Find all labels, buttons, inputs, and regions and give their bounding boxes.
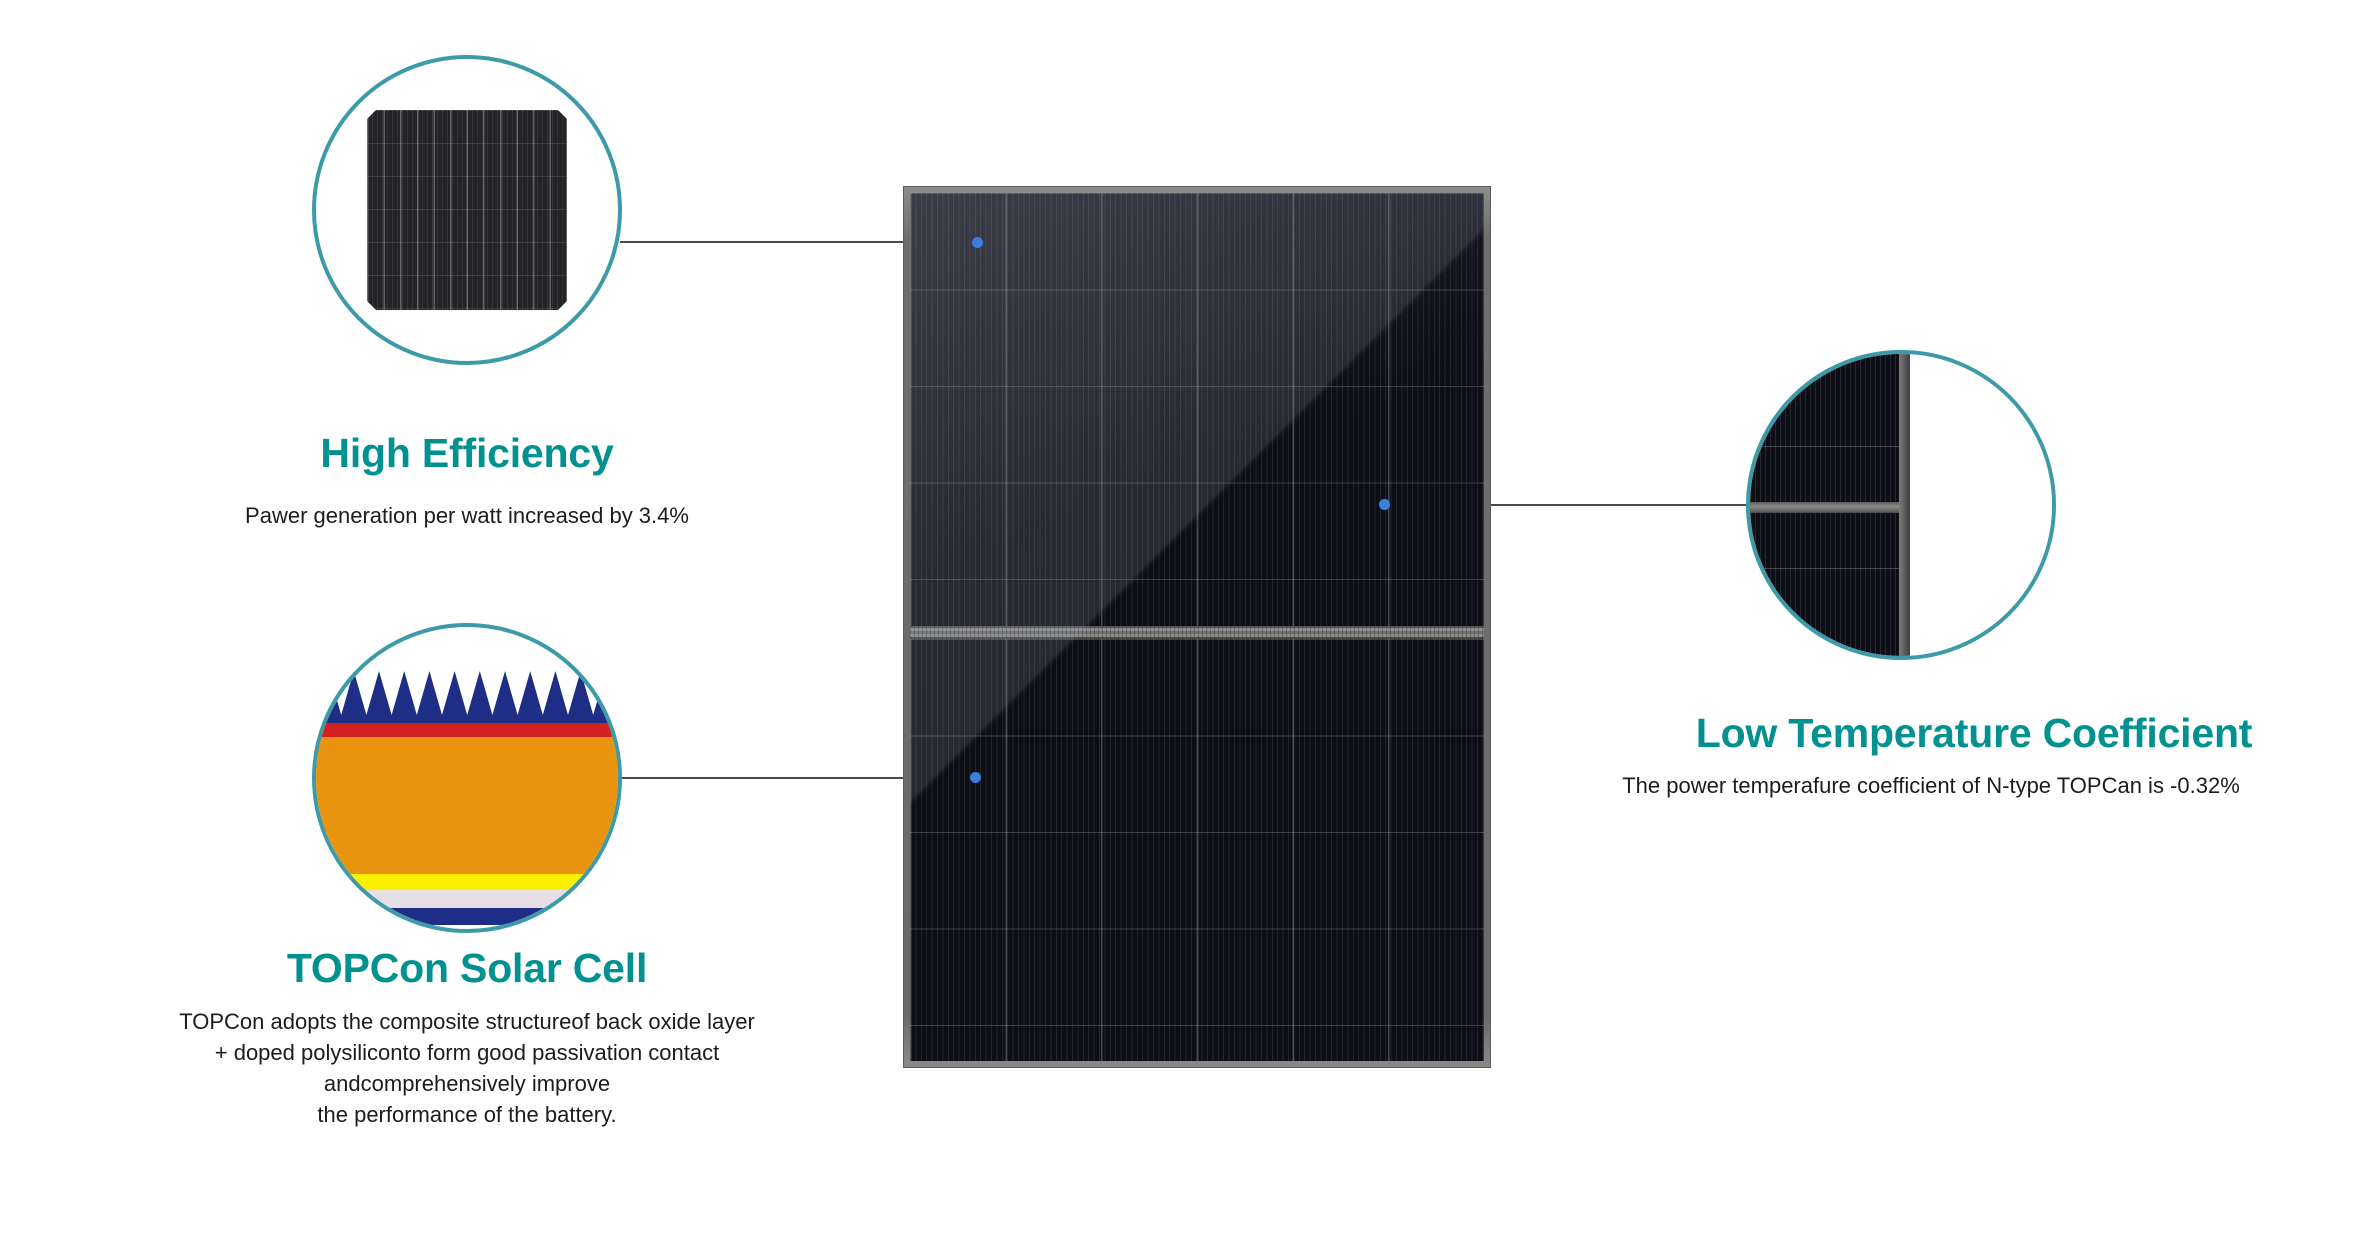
panel-cell-area bbox=[910, 193, 1484, 1061]
feature-description-topcon: TOPCon adopts the composite structureof … bbox=[72, 1006, 862, 1130]
edge-cell-seam bbox=[1750, 568, 1899, 569]
description-line: + doped polysiliconto form good passivat… bbox=[72, 1037, 862, 1068]
connector-line-high-efficiency bbox=[620, 241, 912, 243]
marker-dot-topcon bbox=[970, 772, 981, 783]
edge-busbar-ribbon bbox=[1750, 502, 1899, 513]
marker-dot-high-efficiency bbox=[972, 237, 983, 248]
description-line: TOPCon adopts the composite structureof … bbox=[72, 1006, 862, 1037]
feature-description-high-efficiency: Pawer generation per watt increased by 3… bbox=[0, 500, 934, 531]
cell-cross-section-icon bbox=[316, 627, 618, 929]
feature-title-high-efficiency: High Efficiency bbox=[0, 430, 934, 477]
feature-title-topcon: TOPCon Solar Cell bbox=[0, 945, 934, 992]
panel-edge-zoom-icon bbox=[1750, 354, 2052, 656]
callout-circle-low-temperature[interactable] bbox=[1746, 350, 2056, 660]
connector-line-low-temperature bbox=[1478, 504, 1746, 506]
feature-title-low-temperature: Low Temperature Coefficient bbox=[1586, 710, 2362, 757]
callout-circle-topcon[interactable] bbox=[312, 623, 622, 933]
marker-dot-low-temperature bbox=[1379, 499, 1390, 510]
description-line: andcomprehensively improve bbox=[72, 1068, 862, 1099]
solar-panel-module[interactable] bbox=[903, 186, 1491, 1068]
cell-row-seams-bottom bbox=[910, 639, 1484, 1061]
center-busbar-ribbon bbox=[910, 626, 1484, 639]
cell-row-seams-top bbox=[910, 193, 1484, 628]
infographic-canvas: High Efficiency Pawer generation per wat… bbox=[0, 0, 2362, 1260]
edge-cell-seam bbox=[1750, 446, 1899, 447]
description-line: the performance of the battery. bbox=[72, 1099, 862, 1130]
callout-circle-high-efficiency[interactable] bbox=[312, 55, 622, 365]
edge-frame-rail bbox=[1899, 354, 1910, 656]
solar-cell-wafer-icon bbox=[367, 110, 567, 310]
feature-description-low-temperature: The power temperafure coefficient of N-t… bbox=[1500, 770, 2362, 801]
connector-line-topcon bbox=[620, 777, 912, 779]
